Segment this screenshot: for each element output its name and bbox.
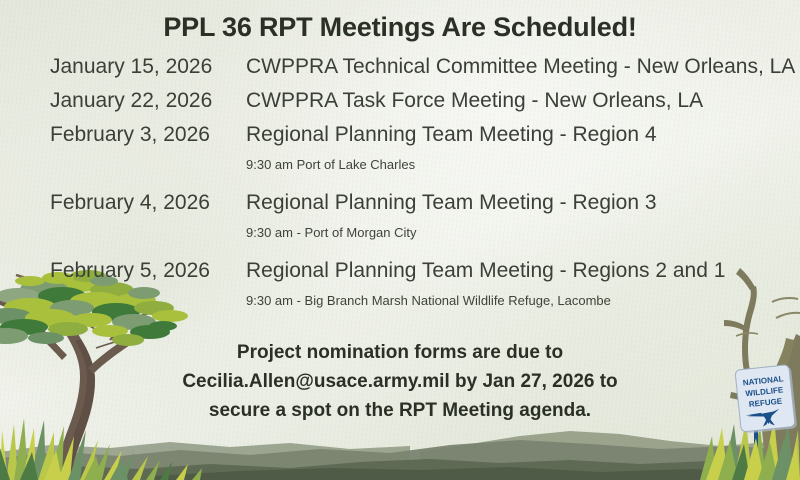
meeting-details: 9:30 am - Port of Morgan City <box>246 225 800 247</box>
meeting-details: 9:30 am Port of Lake Charles <box>246 157 800 179</box>
schedule-row: January 22, 2026 CWPPRA Task Force Meeti… <box>0 89 800 123</box>
meeting-description: CWPPRA Task Force Meeting - New Orleans,… <box>246 89 703 113</box>
schedule-list: January 15, 2026 CWPPRA Technical Commit… <box>0 55 800 315</box>
meeting-description: CWPPRA Technical Committee Meeting - New… <box>246 55 795 79</box>
meeting-date: February 4, 2026 <box>50 191 240 215</box>
page-title: PPL 36 RPT Meetings Are Scheduled! <box>0 12 800 43</box>
meeting-description: Regional Planning Team Meeting - Region … <box>246 191 657 215</box>
meeting-date: February 5, 2026 <box>50 259 240 283</box>
poster-canvas: NATIONAL WILDLIFE REFUGE <box>0 0 800 480</box>
meeting-date: January 15, 2026 <box>50 55 240 79</box>
schedule-row: January 15, 2026 CWPPRA Technical Commit… <box>0 55 800 89</box>
meeting-date: January 22, 2026 <box>50 89 240 113</box>
footer-line-1: Project nomination forms are due to <box>0 338 800 367</box>
row-spacer <box>0 247 800 259</box>
schedule-row: February 5, 2026 Regional Planning Team … <box>0 259 800 315</box>
poster-content: PPL 36 RPT Meetings Are Scheduled! Janua… <box>0 0 800 480</box>
schedule-row: February 4, 2026 Regional Planning Team … <box>0 191 800 247</box>
meeting-date: February 3, 2026 <box>50 123 240 147</box>
footer-line-2: Cecilia.Allen@usace.army.mil by Jan 27, … <box>0 367 800 396</box>
footer-notice: Project nomination forms are due to Ceci… <box>0 338 800 425</box>
meeting-description: Regional Planning Team Meeting - Region … <box>246 123 657 147</box>
footer-line-3: secure a spot on the RPT Meeting agenda. <box>0 396 800 425</box>
meeting-details: 9:30 am - Big Branch Marsh National Wild… <box>246 293 800 315</box>
meeting-description: Regional Planning Team Meeting - Regions… <box>246 259 725 283</box>
schedule-row: February 3, 2026 Regional Planning Team … <box>0 123 800 179</box>
row-spacer <box>0 179 800 191</box>
